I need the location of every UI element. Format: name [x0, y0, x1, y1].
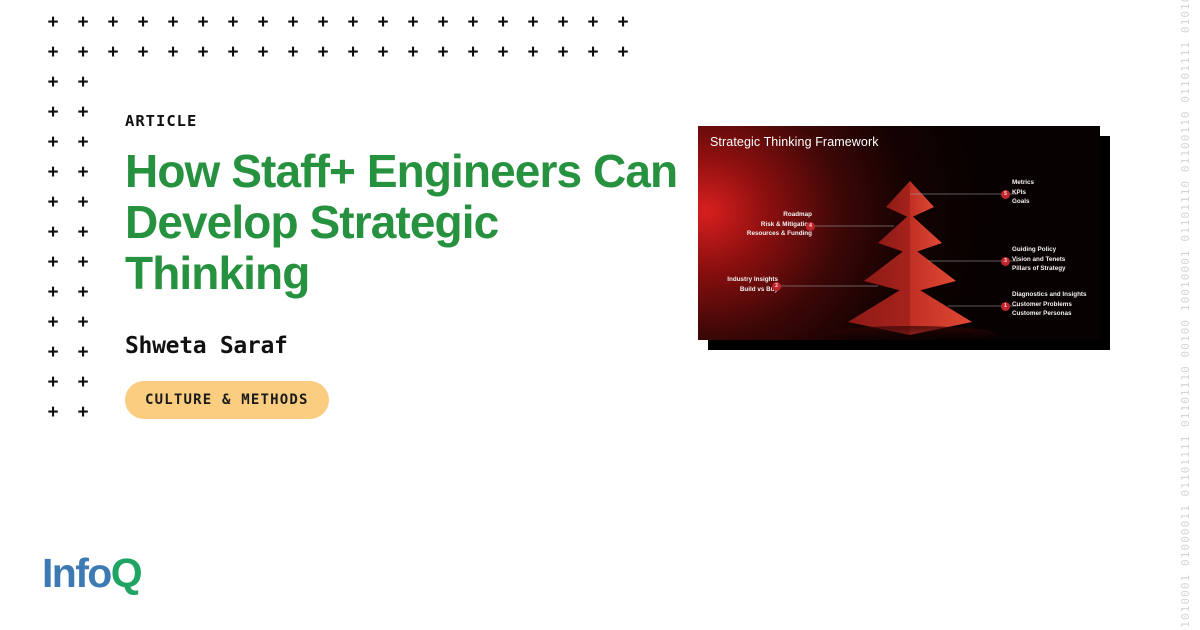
pyramid-badge-tier-1: 1: [1001, 302, 1010, 311]
topic-badge[interactable]: CULTURE & METHODS: [125, 381, 329, 419]
pyramid-label-tier-2: Industry InsightsBuild vs Buy: [727, 275, 778, 294]
pyramid-label-tier-1: Diagnostics and InsightsCustomer Problem…: [1012, 290, 1087, 319]
plus-decoration: +: [76, 313, 90, 327]
plus-decoration: +: [76, 223, 90, 237]
pyramid-label-line: Pillars of Strategy: [1012, 264, 1066, 274]
plus-decoration: +: [76, 193, 90, 207]
hero-image: Strategic Thinking Framework: [698, 126, 1100, 340]
plus-decoration: +: [376, 13, 390, 27]
plus-decoration: +: [346, 43, 360, 57]
plus-decoration: +: [46, 373, 60, 387]
plus-decoration: +: [76, 103, 90, 117]
plus-decoration: +: [46, 43, 60, 57]
plus-decoration: +: [46, 253, 60, 267]
pyramid-badge-tier-2: 2: [772, 282, 781, 291]
plus-decoration: +: [46, 283, 60, 297]
plus-decoration: +: [376, 43, 390, 57]
logo-info-text: Info: [42, 550, 111, 596]
pyramid-badge-tier-4: 4: [806, 222, 815, 231]
pyramid-label-line: Industry Insights: [727, 275, 778, 285]
plus-decoration: +: [256, 43, 270, 57]
author-name: Shweta Saraf: [125, 333, 685, 359]
plus-decoration: +: [436, 13, 450, 27]
plus-decoration: +: [136, 13, 150, 27]
plus-decoration: +: [76, 133, 90, 147]
pyramid-label-line: Customer Personas: [1012, 309, 1087, 319]
plus-decoration: +: [226, 13, 240, 27]
plus-decoration: +: [46, 13, 60, 27]
plus-decoration: +: [76, 43, 90, 57]
pyramid-label-line: Vision and Tenets: [1012, 255, 1066, 265]
plus-decoration: +: [46, 403, 60, 417]
plus-decoration: +: [46, 163, 60, 177]
pyramid-label-line: Goals: [1012, 197, 1034, 207]
pyramid-badge-tier-5: 5: [1001, 190, 1010, 199]
plus-decoration: +: [496, 43, 510, 57]
plus-decoration: +: [226, 43, 240, 57]
pyramid-label-line: Diagnostics and Insights: [1012, 290, 1087, 300]
plus-decoration: +: [316, 43, 330, 57]
plus-decoration: +: [46, 223, 60, 237]
plus-decoration: +: [76, 283, 90, 297]
plus-decoration: +: [166, 43, 180, 57]
plus-decoration: +: [46, 103, 60, 117]
plus-decoration: +: [76, 163, 90, 177]
plus-decoration: +: [46, 313, 60, 327]
binary-text: 01000000 01010001 01000011 01101111 0110…: [1179, 0, 1192, 630]
pyramid-badge-tier-3: 3: [1001, 257, 1010, 266]
plus-decoration: +: [46, 343, 60, 357]
plus-decoration: +: [496, 13, 510, 27]
plus-decoration: +: [256, 13, 270, 27]
pyramid-label-line: KPIs: [1012, 188, 1034, 198]
infoq-logo[interactable]: InfoQ: [42, 553, 141, 594]
pyramid-label-tier-5: MetricsKPIsGoals: [1012, 178, 1034, 207]
plus-decoration: +: [106, 13, 120, 27]
plus-decoration: +: [586, 13, 600, 27]
page-title: How Staff+ Engineers Can Develop Strateg…: [125, 146, 685, 299]
plus-decoration: +: [526, 13, 540, 27]
pyramid-label-line: Customer Problems: [1012, 300, 1087, 310]
plus-decoration: +: [616, 43, 630, 57]
strategic-thinking-slide: Strategic Thinking Framework: [698, 126, 1100, 340]
article-kicker: ARTICLE: [125, 112, 685, 130]
pyramid-label-tier-4: RoadmapRisk & MitigationResources & Fund…: [747, 210, 812, 239]
plus-decoration: +: [466, 13, 480, 27]
pyramid-label-line: Roadmap: [747, 210, 812, 220]
plus-decoration: +: [316, 13, 330, 27]
plus-decoration: +: [76, 13, 90, 27]
plus-decoration: +: [76, 343, 90, 357]
pyramid-label-line: Resources & Funding: [747, 229, 812, 239]
plus-decoration: +: [466, 43, 480, 57]
plus-decoration: +: [616, 13, 630, 27]
plus-decoration: +: [526, 43, 540, 57]
plus-decoration: +: [76, 253, 90, 267]
plus-decoration: +: [286, 43, 300, 57]
plus-decoration: +: [76, 73, 90, 87]
plus-decoration: +: [76, 373, 90, 387]
plus-decoration: +: [46, 133, 60, 147]
plus-decoration: +: [136, 43, 150, 57]
plus-decoration: +: [46, 73, 60, 87]
logo-q-text: Q: [111, 550, 141, 596]
plus-decoration: +: [196, 13, 210, 27]
plus-decoration: +: [406, 13, 420, 27]
pyramid-label-tier-3: Guiding PolicyVision and TenetsPillars o…: [1012, 245, 1066, 274]
binary-decoration-strip: 01000000 01010001 01000011 01101111 0110…: [1170, 0, 1200, 630]
plus-decoration: +: [406, 43, 420, 57]
pyramid-label-line: Metrics: [1012, 178, 1034, 188]
plus-decoration: +: [106, 43, 120, 57]
plus-decoration: +: [286, 13, 300, 27]
plus-decoration: +: [346, 13, 360, 27]
plus-decoration: +: [46, 193, 60, 207]
plus-decoration: +: [586, 43, 600, 57]
plus-decoration: +: [436, 43, 450, 57]
plus-decoration: +: [196, 43, 210, 57]
pyramid-label-line: Build vs Buy: [727, 285, 778, 295]
pyramid-label-line: Risk & Mitigation: [747, 220, 812, 230]
plus-decoration: +: [556, 13, 570, 27]
pyramid-label-line: Guiding Policy: [1012, 245, 1066, 255]
plus-decoration: +: [166, 13, 180, 27]
plus-decoration: +: [556, 43, 570, 57]
plus-decoration: +: [76, 403, 90, 417]
article-text-block: ARTICLE How Staff+ Engineers Can Develop…: [125, 112, 685, 359]
